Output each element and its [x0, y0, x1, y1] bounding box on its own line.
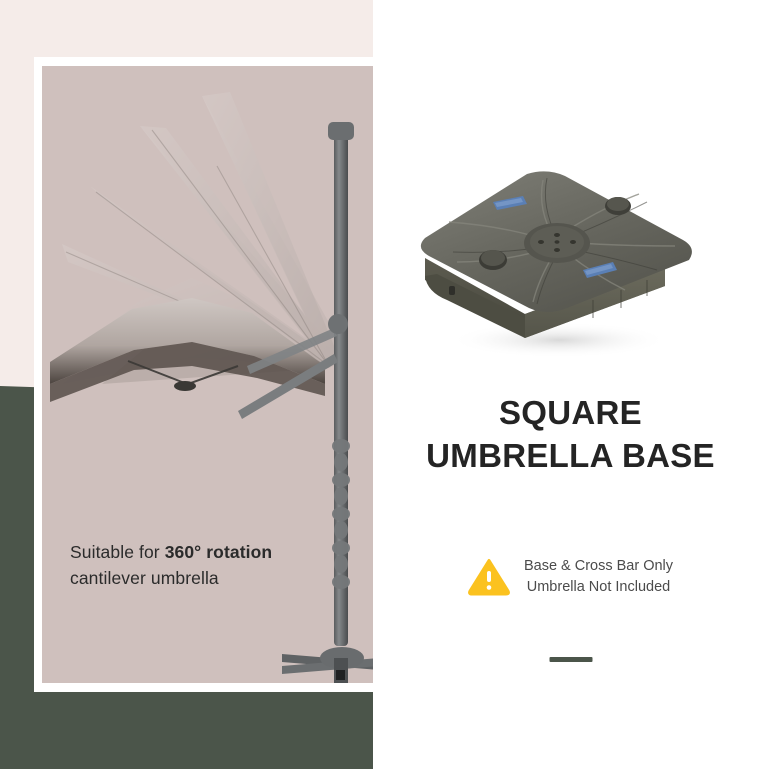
caption-line-2: cantilever umbrella	[70, 568, 219, 588]
photo-frame: Suitable for 360° rotation cantilever um…	[34, 57, 373, 692]
notice-text: Base & Cross Bar Only Umbrella Not Inclu…	[524, 556, 673, 598]
notice-line-2: Umbrella Not Included	[524, 577, 673, 598]
warning-triangle-icon	[468, 558, 510, 596]
title-line-2: UMBRELLA BASE	[373, 435, 768, 478]
right-panel: SQUARE UMBRELLA BASE Base & Cross Bar On…	[373, 0, 768, 769]
cantilever-umbrella-rotation-photo: Suitable for 360° rotation cantilever um…	[42, 66, 373, 683]
inclusion-notice: Base & Cross Bar Only Umbrella Not Inclu…	[373, 556, 768, 598]
left-panel: Suitable for 360° rotation cantilever um…	[0, 0, 373, 769]
page-title: SQUARE UMBRELLA BASE	[373, 392, 768, 478]
caption-emphasis: 360° rotation	[165, 542, 273, 562]
notice-line-1: Base & Cross Bar Only	[524, 556, 673, 577]
photo-caption: Suitable for 360° rotation cantilever um…	[70, 539, 350, 592]
square-umbrella-base-product-photo	[407, 150, 707, 365]
title-line-1: SQUARE	[373, 392, 768, 435]
product-feature-graphic: Suitable for 360° rotation cantilever um…	[0, 0, 768, 769]
divider-bar	[549, 657, 592, 662]
caption-prefix: Suitable for	[70, 542, 165, 562]
